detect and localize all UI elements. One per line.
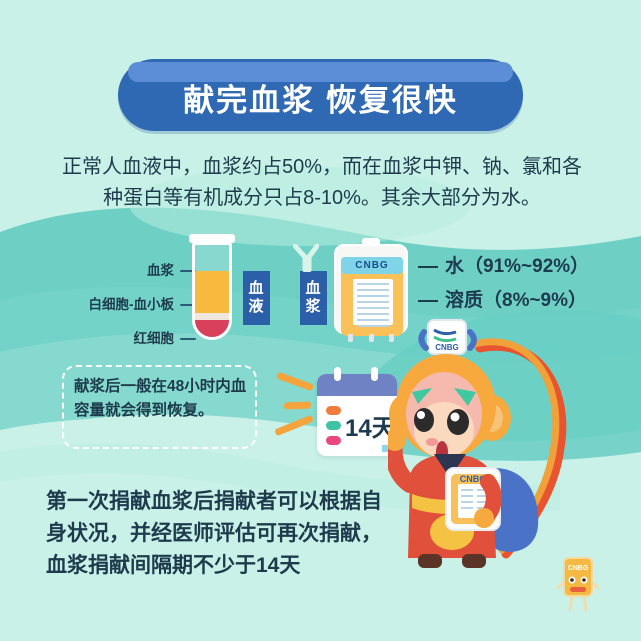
burst-line-3 bbox=[274, 415, 314, 436]
badge-blood: 血 液 bbox=[243, 271, 270, 325]
tube-cap bbox=[189, 234, 235, 243]
mascot-eye-left bbox=[414, 408, 434, 432]
calendar-dot-1 bbox=[326, 406, 341, 415]
bag-port-center bbox=[369, 334, 374, 342]
funnel-icon bbox=[293, 244, 319, 272]
composition-row-water: 水（91%~92%） bbox=[418, 250, 589, 284]
calendar-dot-3 bbox=[326, 436, 341, 445]
mini-mascot-mouth bbox=[570, 587, 586, 592]
mascot-headband-bag: CNBG bbox=[421, 320, 474, 354]
mascot-blush bbox=[426, 438, 438, 446]
tube-plasma-layer bbox=[195, 271, 229, 313]
bottom-paragraph: 第一次捐献血浆后捐献者可以根据自身状况，并经医师评估可再次捐献，血浆捐献间隔期不… bbox=[46, 486, 396, 582]
tube-glass bbox=[192, 242, 232, 340]
blood-test-tube-icon bbox=[189, 234, 235, 340]
mascot-pointing-finger bbox=[390, 418, 398, 438]
bag-brand-label: CNBG bbox=[341, 257, 403, 274]
burst-line-2 bbox=[284, 402, 311, 410]
mascot-eye-shine-right bbox=[451, 413, 460, 422]
badge-plasma: 血 浆 bbox=[300, 271, 327, 325]
intro-paragraph: 正常人血液中，血浆约占50%，而在血浆中钾、钠、氯和各种蛋白等有机成分只占8-1… bbox=[52, 152, 592, 214]
svg-text:CNBG: CNBG bbox=[435, 343, 459, 352]
tube-label-wbc-platelets: 白细胞-血小板 bbox=[89, 298, 175, 312]
badge-plasma-char-1: 血 bbox=[305, 280, 321, 298]
calendar-header bbox=[317, 374, 397, 396]
composition-label-solute: 溶质（8%~9%） bbox=[445, 290, 587, 311]
burst-line-1 bbox=[276, 372, 314, 392]
badge-blood-char-2: 液 bbox=[248, 298, 264, 316]
composition-dash-water bbox=[418, 266, 438, 268]
page-title: 献完血浆 恢复很快 bbox=[118, 59, 523, 131]
infographic-page: 献完血浆 恢复很快 正常人血液中，血浆约占50%，而在血浆中钾、钠、氯和各种蛋白… bbox=[0, 0, 641, 641]
recovery-callout-text: 献浆后一般在48小时内血容量就会得到恢复。 bbox=[74, 375, 252, 423]
mascot-eye-right bbox=[447, 409, 469, 435]
mascot-hand-right bbox=[474, 508, 494, 528]
plasma-composition-list: 水（91%~92%） 溶质（8%~9%） bbox=[418, 250, 589, 318]
mascot-boot-left bbox=[418, 554, 442, 568]
tube-red-cell-layer bbox=[195, 320, 229, 337]
mini-mascot-pupil-right bbox=[582, 578, 586, 582]
monkey-mascot-illustration: CNBG bbox=[388, 318, 588, 588]
mini-mascot-leg-left bbox=[570, 596, 572, 610]
mascot-eye-shine-left bbox=[417, 411, 425, 419]
tube-buffy-coat-layer bbox=[195, 313, 229, 320]
calendar-ring-right bbox=[371, 367, 378, 381]
bag-paper-label bbox=[353, 279, 393, 325]
page-title-banner: 献完血浆 恢复很快 bbox=[118, 59, 523, 131]
recovery-callout-box: 献浆后一般在48小时内血容量就会得到恢复。 bbox=[62, 365, 257, 449]
tube-label-plasma: 血浆 bbox=[147, 264, 174, 278]
mini-mascot-leg-right bbox=[584, 596, 586, 610]
composition-dash-solute bbox=[418, 300, 438, 302]
calendar-dot-2 bbox=[326, 421, 341, 430]
mini-mascot-brand: CNBG bbox=[568, 565, 589, 572]
bag-port-left bbox=[348, 334, 353, 342]
calendar-ring-left bbox=[334, 367, 341, 381]
mini-cnbg-mascot-icon: CNBG bbox=[556, 556, 600, 618]
mascot-boot-right bbox=[462, 554, 486, 568]
composition-row-solute: 溶质（8%~9%） bbox=[418, 284, 589, 318]
composition-label-water: 水（91%~92%） bbox=[445, 256, 589, 277]
badge-plasma-char-2: 浆 bbox=[305, 298, 321, 316]
mini-mascot-pupil-left bbox=[570, 578, 574, 582]
badge-blood-char-1: 血 bbox=[248, 280, 264, 298]
tube-label-rbc: 红细胞 bbox=[134, 332, 175, 346]
calendar-icon: 14天 bbox=[317, 374, 397, 456]
